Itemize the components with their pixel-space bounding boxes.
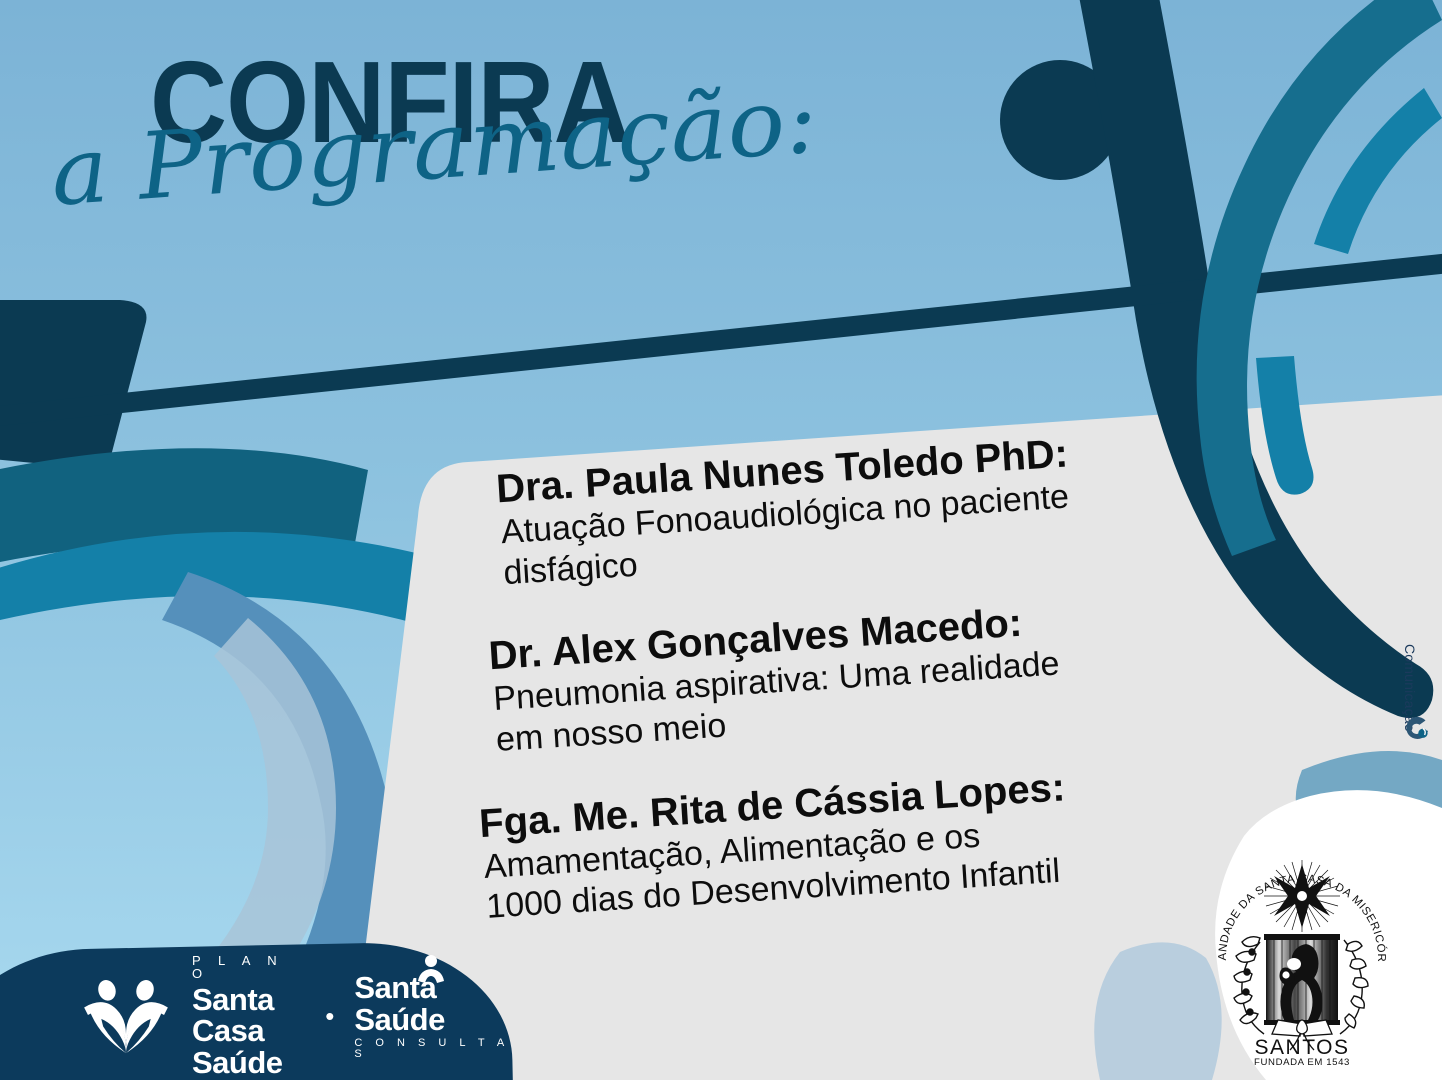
- santa-casa-heart-icon: [78, 977, 174, 1055]
- plano-line-3: Saúde: [192, 1047, 305, 1079]
- program-item: Dr. Alex Gonçalves Macedo: Pneumonia asp…: [465, 591, 1192, 762]
- santa-casa-misericordia-seal: IRMANDADE DA SANTA CASA DA MISERICÓRDIA: [1202, 838, 1402, 1068]
- logo-bar: P L A N O Santa Casa Saúde • Santa Saúde…: [0, 952, 520, 1080]
- person-icon: [416, 955, 446, 989]
- plano-line-2: Casa: [192, 1015, 305, 1047]
- plano-line-1: Santa: [192, 984, 305, 1016]
- seal-laurel-left: [1234, 937, 1264, 1034]
- logo-separator-dot: •: [325, 1003, 334, 1029]
- plano-santa-casa-saude-logo: P L A N O Santa Casa Saúde: [192, 954, 305, 1079]
- santa-saude-line-2: Saúde: [354, 1004, 520, 1036]
- plano-label: P L A N O: [192, 954, 305, 980]
- seal-wheat-right: [1340, 940, 1368, 1034]
- seal-founded-label: FUNDADA EM 1543: [1254, 1057, 1350, 1068]
- consultas-label: C O N S U L T A S: [354, 1038, 520, 1060]
- seal-city-label: SANTOS: [1255, 1036, 1350, 1059]
- poster-canvas: CONFIRA a Programação: Dra. Paula Nunes …: [0, 0, 1442, 1080]
- comunicacao-c-icon: [1400, 712, 1434, 746]
- comunicacao-tag: Comunicação: [1398, 638, 1438, 748]
- santa-saude-consultas-logo: Santa Saúde C O N S U L T A S: [354, 972, 520, 1060]
- seal-star: [1264, 860, 1340, 932]
- program-list: Dra. Paula Nunes Toledo PhD: Atuação Fon…: [455, 425, 1202, 928]
